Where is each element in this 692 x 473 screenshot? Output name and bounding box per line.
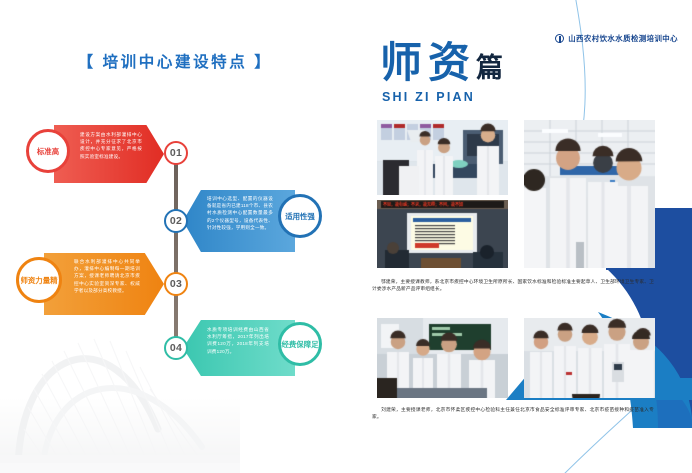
photo-lab-training-session [377, 120, 508, 195]
brand-lockup: 山西农村饮水水质检测培训中心 [555, 33, 678, 44]
feature-body-03: 联合水利部灌排中心共同举办，灌排中心编制每一期培训方案，授课老师聘请北京市疾控中… [74, 258, 140, 294]
section-heading-main: 师资 [380, 38, 476, 87]
timeline-number-02: 02 [164, 209, 188, 233]
feature-body-01: 建设方案由水利部灌排中心设计，并充分征求了北京市疾控中心专家意见，严格按照实验室… [80, 131, 142, 160]
photo-caption-2: 刘建荣，主要授课老师，北京市怀柔区疾控中心检验科主任兼任北京市食品安全标准评审专… [372, 406, 654, 421]
timeline-number-04: 04 [164, 336, 188, 360]
feature-banner-03: 联合水利部灌排中心共同举办，灌排中心编制每一期培训方案，授课老师聘请北京市疾控中… [44, 253, 164, 315]
photo-classroom-lecture [377, 318, 508, 398]
feature-badge-03: 师资力量精 [16, 257, 62, 303]
feature-badge-01: 标准高 [26, 129, 70, 173]
feature-badge-04: 经费保障足 [278, 322, 322, 366]
feature-badge-02: 适用性强 [278, 194, 322, 238]
section-heading-pinyin: SHI ZI PIAN [382, 90, 475, 104]
photo-group-demonstration [524, 318, 655, 398]
feature-banner-01: 建设方案由水利部灌排中心设计，并充分征求了北京市疾控中心专家意见，严格按照实验室… [54, 125, 164, 183]
page-title: 【 培训中心建设特点 】 [0, 50, 350, 72]
feature-body-04: 水质专项培训经费由山西省水利厅筹措，2017年列出培训费120万，2018年列支… [207, 326, 269, 355]
timeline-number-03: 03 [164, 272, 188, 296]
section-heading: 师资篇 [380, 40, 503, 92]
feature-body-02: 培训中心选型、配置的仪器设备就是省内已建118个市、县农村水质检测中心配置数量最… [207, 195, 273, 231]
left-panel: 【 培训中心建设特点 】 建设方案由水利部灌排中心设计，并充分征求了北京市疾控中… [0, 0, 360, 473]
center-logo-icon [555, 34, 564, 43]
right-panel: 山西农村饮水水质检测培训中心 师资篇 SHI ZI PIAN 鄂建荣，主要授课教… [358, 0, 692, 473]
timeline-spine [174, 152, 178, 348]
timeline-number-01: 01 [164, 141, 188, 165]
photo-caption-1: 鄂建荣，主要授课教师，系北京市疾控中心环境卫生所原所长、国家饮水标准和检验标准主… [372, 278, 654, 293]
photo-instructor-with-students [524, 120, 655, 268]
photo-lecture-hall-projector [377, 200, 508, 268]
poster-page: 【 培训中心建设特点 】 建设方案由水利部灌排中心设计，并充分征求了北京市疾控中… [0, 0, 692, 473]
brand-name: 山西农村饮水水质检测培训中心 [568, 33, 678, 44]
section-heading-suffix: 篇 [476, 53, 503, 84]
